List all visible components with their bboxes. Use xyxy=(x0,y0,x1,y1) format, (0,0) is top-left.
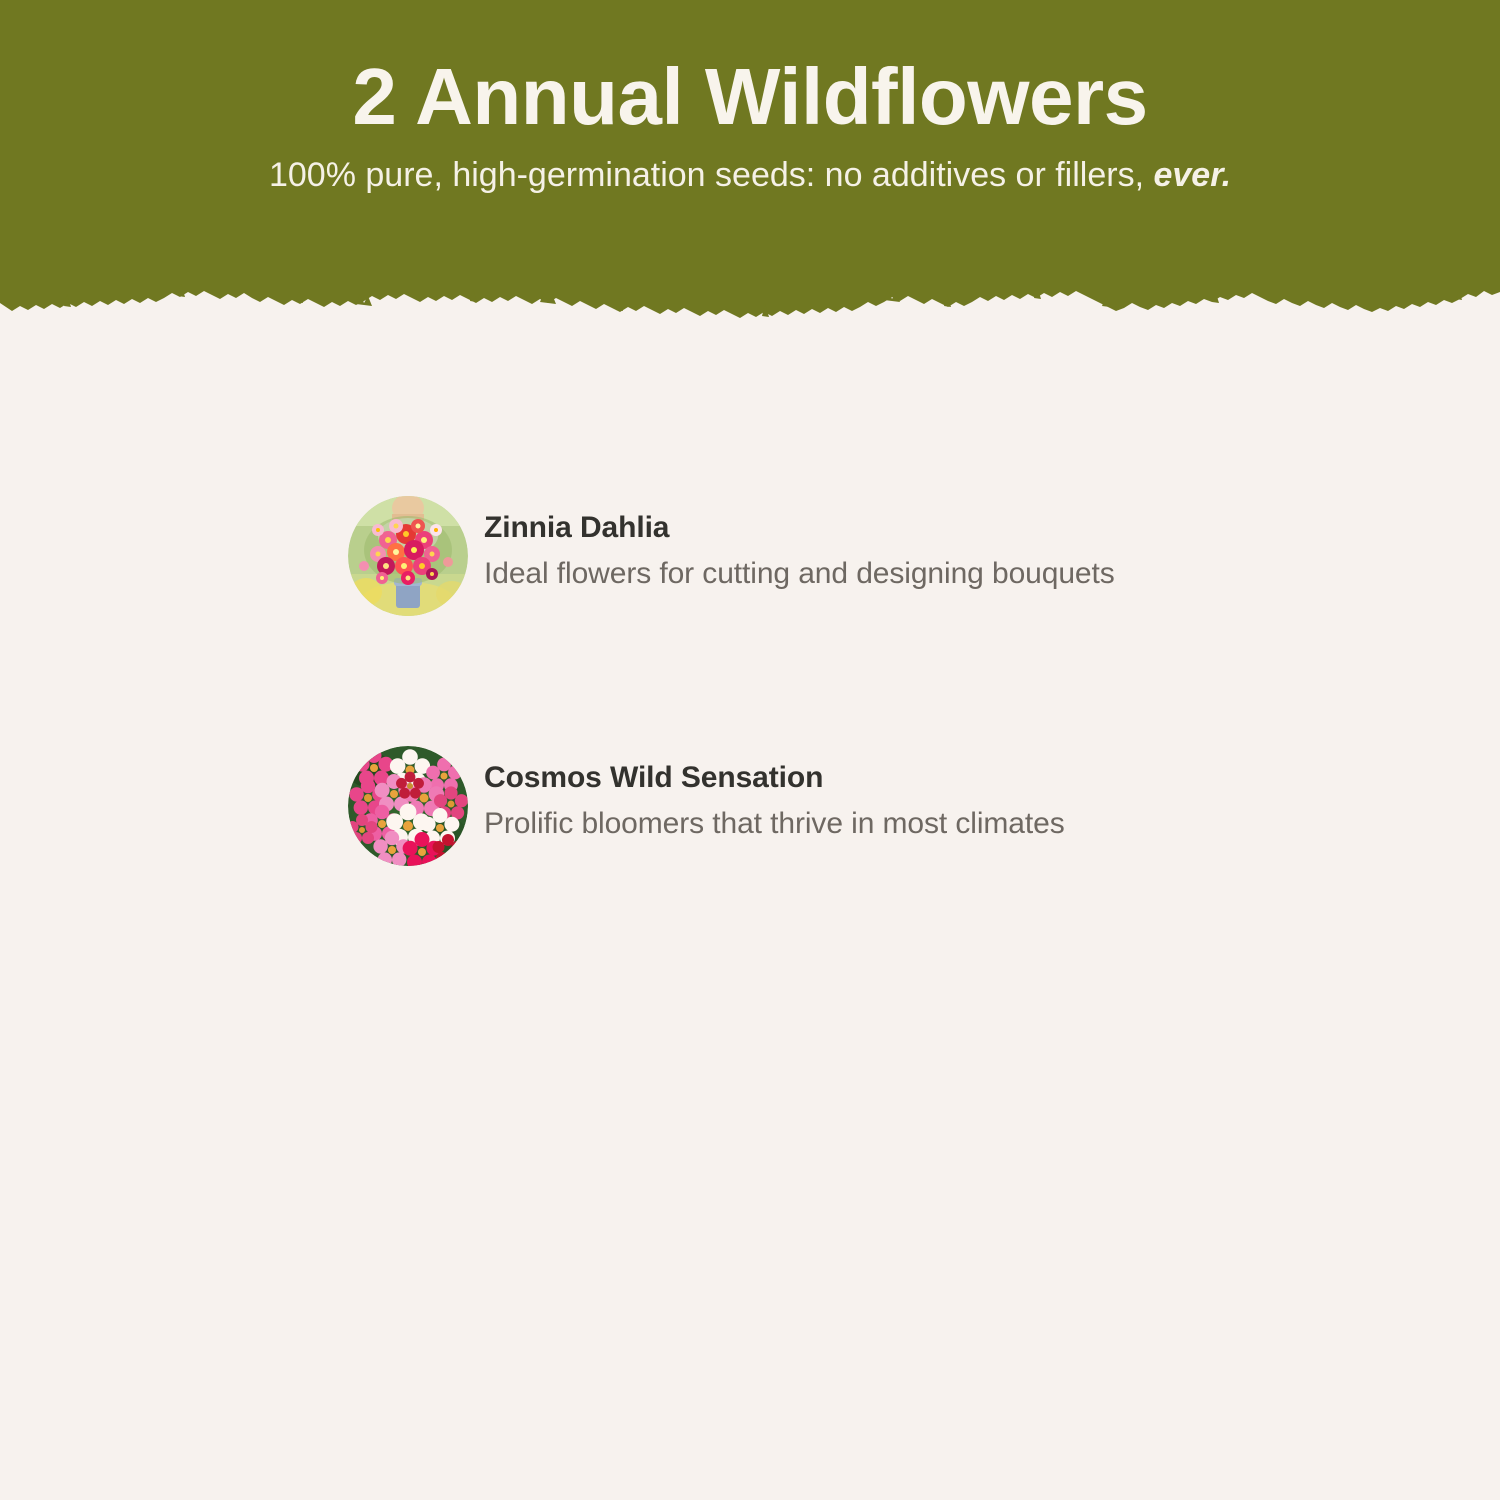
hero-banner: 2 Annual Wildflowers 100% pure, high-ger… xyxy=(0,0,1500,330)
list-item[interactable]: Zinnia Dahlia Ideal flowers for cutting … xyxy=(348,496,1348,616)
feature-text: Zinnia Dahlia Ideal flowers for cutting … xyxy=(468,496,1115,593)
list-item[interactable]: Cosmos Wild Sensation Prolific bloomers … xyxy=(348,746,1348,866)
zinnia-bouquet-photo-icon xyxy=(348,496,468,616)
cosmos-flowers-photo-icon xyxy=(348,746,468,866)
feature-description: Prolific bloomers that thrive in most cl… xyxy=(484,805,1065,843)
feature-description: Ideal flowers for cutting and designing … xyxy=(484,555,1115,593)
hero-subtitle-emphasis: ever. xyxy=(1153,156,1231,194)
feature-name: Cosmos Wild Sensation xyxy=(484,760,1065,796)
feature-text: Cosmos Wild Sensation Prolific bloomers … xyxy=(468,746,1065,843)
hero-text-block: 2 Annual Wildflowers 100% pure, high-ger… xyxy=(0,0,1500,195)
feature-name: Zinnia Dahlia xyxy=(484,510,1115,546)
hero-subtitle: 100% pure, high-germination seeds: no ad… xyxy=(0,156,1500,195)
feature-list: Zinnia Dahlia Ideal flowers for cutting … xyxy=(348,496,1348,996)
hero-subtitle-main: 100% pure, high-germination seeds: no ad… xyxy=(269,156,1144,194)
page-title: 2 Annual Wildflowers xyxy=(0,52,1500,142)
